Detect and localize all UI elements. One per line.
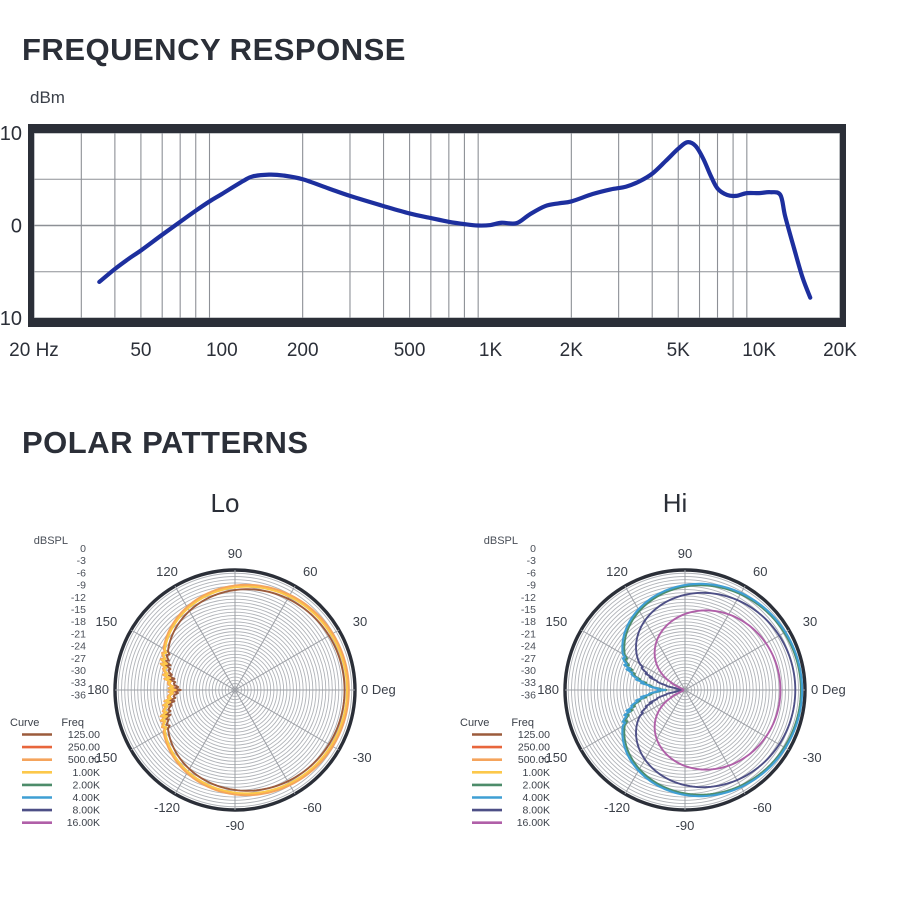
legend-header-freq: Freq (61, 717, 84, 729)
polar-angle-label: 150 (545, 614, 567, 629)
chart-frame-left (28, 124, 34, 327)
polar-radial-tick-label: -3 (77, 555, 86, 567)
polar-angle-label: 30 (803, 614, 817, 629)
legend-label: 2.00K (523, 779, 550, 791)
legend-label: 125.00 (68, 729, 100, 741)
polar-radial-tick-label: -27 (71, 653, 86, 665)
polar-plot-hi: Hi 9012060150301800 Deg-150-30-120-60-90… (450, 480, 900, 900)
polar-angle-label: -60 (753, 800, 772, 815)
legend-label: 250.00 (518, 742, 550, 754)
polar-angle-label: 0 Deg (811, 682, 846, 697)
polar-radial-tick-label: 0 (530, 543, 536, 555)
legend-label: 16.00K (517, 817, 550, 829)
polar-radial-tick-label: -36 (521, 689, 536, 701)
polar-plot-lo: Lo 9012060150301800 Deg-150-30-120-60-90… (0, 480, 450, 900)
polar-angle-label: 90 (228, 546, 242, 561)
polar-angle-label: -90 (226, 818, 245, 833)
polar-angle-label: 150 (95, 614, 117, 629)
polar-radial-tick-label: -30 (71, 665, 86, 677)
chart-frame-top (28, 124, 846, 133)
polar-radial-tick-label: -21 (71, 628, 86, 640)
polar-radial-tick-label: -3 (527, 555, 536, 567)
polar-angle-label: 120 (606, 564, 628, 579)
x-tick-label: 2K (560, 340, 584, 361)
polar-angle-label: -120 (154, 800, 180, 815)
polar-angle-label: 180 (537, 682, 559, 697)
polar-hi-svg: 9012060150301800 Deg-150-30-120-60-90dBS… (450, 530, 900, 900)
polar-radial-tick-label: -30 (521, 665, 536, 677)
polar-radial-scale: dBSPL0-3-6-9-12-15-18-21-24-27-30-33-36 (484, 535, 536, 701)
legend-header-curve: Curve (10, 717, 39, 729)
y-tick-label: 0 (11, 216, 22, 238)
polar-radial-tick-label: -33 (71, 677, 86, 689)
polar-radial-tick-label: -27 (521, 653, 536, 665)
frequency-chart-gridlines (34, 133, 840, 318)
polar-angle-label: -90 (676, 818, 695, 833)
polar-angle-label: -30 (353, 750, 372, 765)
polar-radial-tick-label: -12 (71, 592, 86, 604)
frequency-chart-x-tick-labels: 20 Hz501002005001K2K5K10K20K (9, 340, 857, 361)
page-title-frequency-response: FREQUENCY RESPONSE (22, 32, 406, 68)
polar-radial-tick-label: -18 (521, 616, 536, 628)
frequency-chart-yaxis-unit: dBm (30, 88, 65, 108)
legend-label: 4.00K (523, 792, 550, 804)
polar-angle-label: -120 (604, 800, 630, 815)
polar-angle-label: 0 Deg (361, 682, 396, 697)
polar-hi-heading: Hi (450, 488, 900, 519)
polar-radial-tick-label: -6 (527, 567, 536, 579)
polar-radial-tick-label: -18 (71, 616, 86, 628)
polar-radial-tick-label: -9 (77, 580, 86, 592)
x-tick-label: 100 (206, 340, 238, 361)
y-tick-label: 10 (0, 123, 22, 145)
legend-label: 4.00K (73, 792, 100, 804)
polar-radial-tick-label: -24 (71, 641, 86, 653)
polar-angle-label: -60 (303, 800, 322, 815)
polar-angle-label: 120 (156, 564, 178, 579)
frequency-response-plot: 10010 20 Hz501002005001K2K5K10K20K (0, 118, 900, 378)
x-tick-label: 50 (130, 340, 151, 361)
polar-angle-label: 60 (753, 564, 767, 579)
polar-angle-label: 30 (353, 614, 367, 629)
polar-radial-scale: dBSPL0-3-6-9-12-15-18-21-24-27-30-33-36 (34, 535, 86, 701)
polar-radial-tick-label: -36 (71, 689, 86, 701)
frequency-chart-y-tick-labels: 10010 (0, 123, 22, 330)
legend-label: 125.00 (518, 729, 550, 741)
polar-radial-unit-label: dBSPL (484, 535, 518, 547)
legend-label: 1.00K (523, 767, 550, 779)
legend-label: 2.00K (73, 779, 100, 791)
polar-legend: CurveFreq125.00250.00500.001.00K2.00K4.0… (10, 717, 100, 829)
x-tick-label: 20K (823, 340, 857, 361)
frequency-response-chart: 10010 20 Hz501002005001K2K5K10K20K (0, 118, 900, 378)
polar-radial-tick-label: -21 (521, 628, 536, 640)
legend-label: 8.00K (73, 805, 100, 817)
chart-frame-right (840, 124, 846, 327)
polar-radial-tick-label: -9 (527, 580, 536, 592)
chart-frame-bottom (28, 318, 846, 327)
polar-radial-tick-label: -24 (521, 641, 536, 653)
polar-radial-tick-label: -12 (521, 592, 536, 604)
polar-radial-tick-label: -6 (77, 567, 86, 579)
polar-angle-label: -30 (803, 750, 822, 765)
polar-radial-tick-label: 0 (80, 543, 86, 555)
polar-radial-tick-label: -15 (521, 604, 536, 616)
x-tick-label: 1K (479, 340, 503, 361)
polar-legend: CurveFreq125.00250.00500.001.00K2.00K4.0… (460, 717, 550, 829)
polar-angle-label: 90 (678, 546, 692, 561)
legend-label: 8.00K (523, 805, 550, 817)
legend-label: 500.00 (68, 754, 100, 766)
legend-label: 16.00K (67, 817, 100, 829)
page-title-polar-patterns: POLAR PATTERNS (22, 425, 309, 461)
legend-header-freq: Freq (511, 717, 534, 729)
x-tick-label: 20 Hz (9, 340, 59, 361)
x-tick-label: 500 (394, 340, 426, 361)
polar-radial-tick-label: -15 (71, 604, 86, 616)
polar-radial-unit-label: dBSPL (34, 535, 68, 547)
frequency-response-curve (99, 142, 810, 297)
polar-angle-label: 60 (303, 564, 317, 579)
legend-label: 500.00 (518, 754, 550, 766)
polar-lo-heading: Lo (0, 488, 450, 519)
legend-header-curve: Curve (460, 717, 489, 729)
polar-radial-tick-label: -33 (521, 677, 536, 689)
legend-label: 1.00K (73, 767, 100, 779)
y-tick-label: 10 (0, 308, 22, 330)
x-tick-label: 200 (287, 340, 319, 361)
x-tick-label: 10K (742, 340, 776, 361)
polar-lo-svg: 9012060150301800 Deg-150-30-120-60-90dBS… (0, 530, 450, 900)
polar-angle-label: 180 (87, 682, 109, 697)
legend-label: 250.00 (68, 742, 100, 754)
x-tick-label: 5K (667, 340, 691, 361)
